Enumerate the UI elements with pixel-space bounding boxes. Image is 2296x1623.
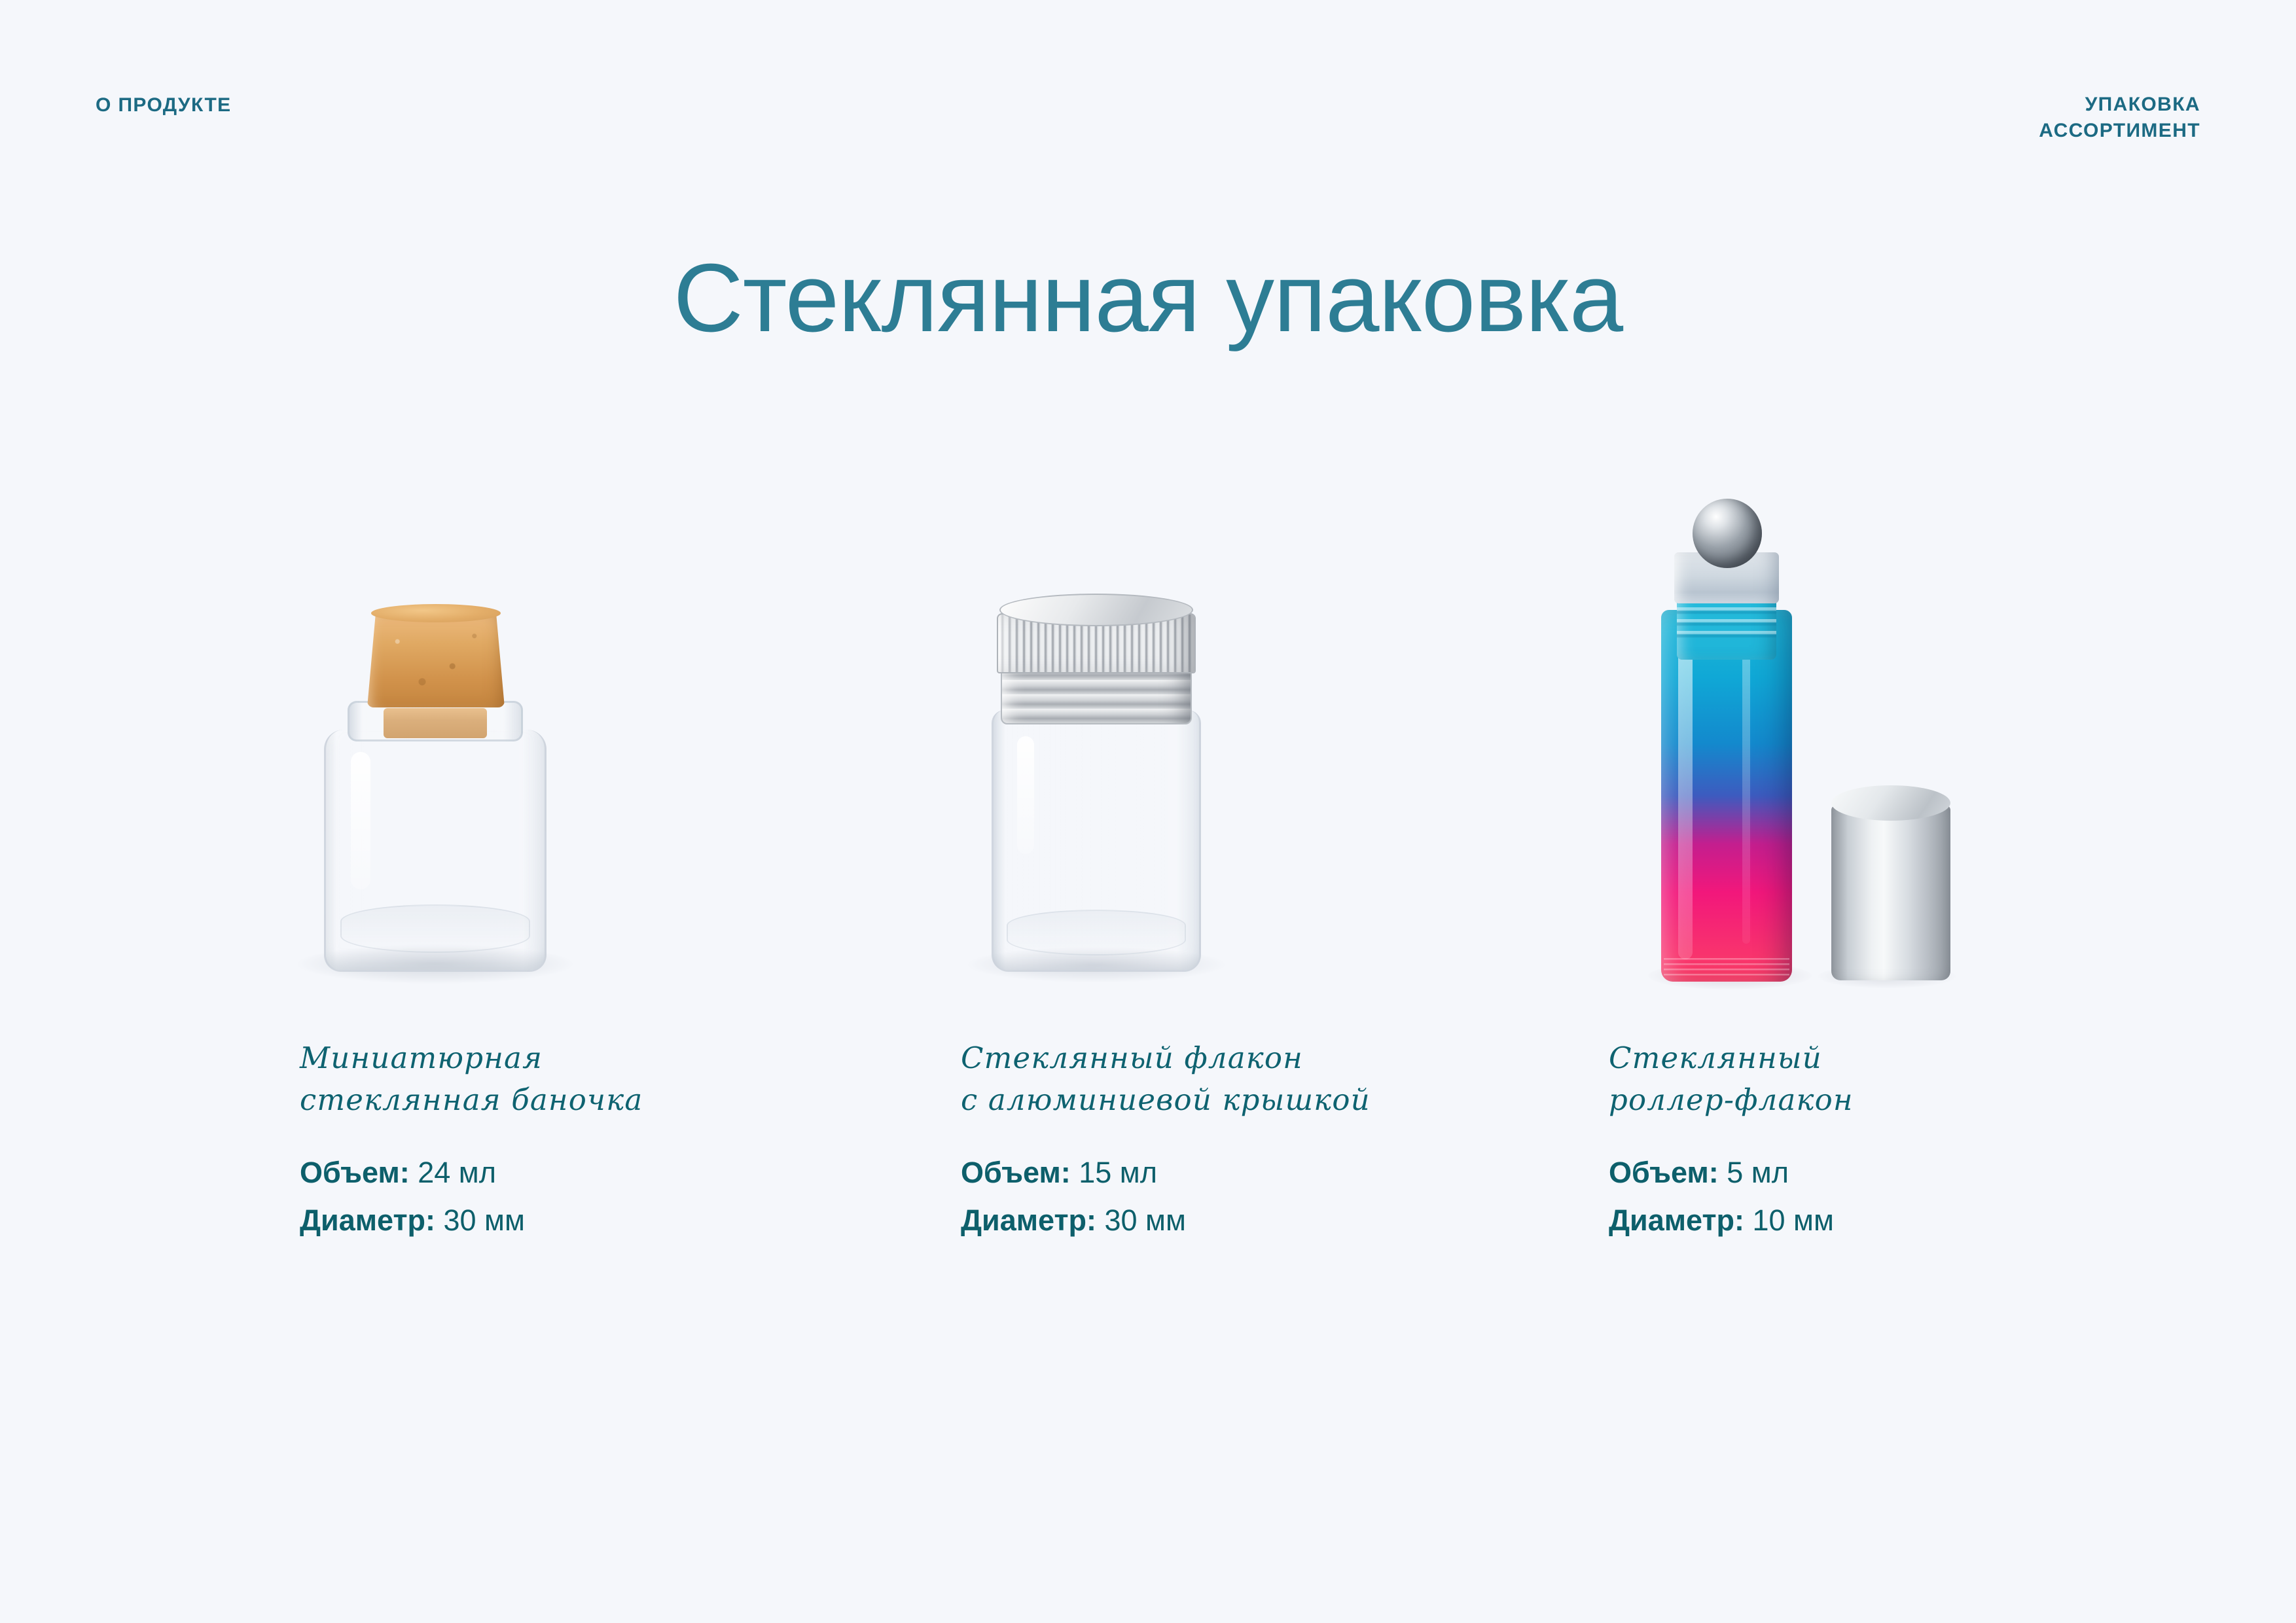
spec-diameter-value: 10 мм bbox=[1753, 1204, 1834, 1237]
header-topic-line-1: УПАКОВКА bbox=[2039, 92, 2200, 118]
page-title: Стеклянная упаковка bbox=[0, 247, 2296, 349]
jar-glass-body bbox=[324, 730, 547, 972]
spec-volume-value: 24 мл bbox=[418, 1156, 496, 1189]
spec-diameter-label: Диаметр: bbox=[300, 1204, 435, 1237]
aluminium-cap-top bbox=[999, 594, 1193, 626]
product-caption: Стеклянный роллер-флакон bbox=[1609, 1037, 2172, 1121]
product-card: Миниатюрная стеклянная баночка Объем: 24… bbox=[216, 484, 877, 1335]
spec-diameter-label: Диаметр: bbox=[961, 1204, 1096, 1237]
spec-volume: Объем: 5 мл bbox=[1609, 1149, 2172, 1196]
spec-volume: Объем: 15 мл bbox=[961, 1149, 1524, 1196]
spec-diameter: Диаметр: 30 мм bbox=[961, 1196, 1524, 1244]
product-card: Стеклянный роллер-флакон Объем: 5 мл Диа… bbox=[1525, 484, 2186, 1335]
spec-volume-value: 5 мл bbox=[1727, 1156, 1789, 1189]
product-caption: Миниатюрная стеклянная баночка bbox=[300, 1037, 863, 1121]
glass-highlight-secondary bbox=[1742, 636, 1750, 944]
spec-diameter: Диаметр: 30 мм bbox=[300, 1196, 863, 1244]
spec-diameter-value: 30 мм bbox=[1105, 1204, 1186, 1237]
silver-cap-top bbox=[1831, 785, 1950, 821]
product-card-list: Миниатюрная стеклянная баночка Объем: 24… bbox=[0, 484, 2296, 1335]
header-topic-line-2: АССОРТИМЕНТ bbox=[2039, 118, 2200, 144]
product-caption: Стеклянный флакон с алюминиевой крышкой bbox=[961, 1037, 1524, 1121]
spec-volume: Объем: 24 мл bbox=[300, 1149, 863, 1196]
spec-diameter-value: 30 мм bbox=[444, 1204, 525, 1237]
spec-diameter: Диаметр: 10 мм bbox=[1609, 1196, 2172, 1244]
spec-volume-label: Объем: bbox=[300, 1156, 410, 1189]
slide-root: О ПРОДУКТЕ УПАКОВКА АССОРТИМЕНТ Стеклянн… bbox=[0, 0, 2296, 1623]
product-image-miniature-glass-jar-with-cork-stopper bbox=[216, 484, 877, 1008]
roller-bottle-illustration bbox=[1610, 504, 1964, 982]
jar-glass-body bbox=[992, 710, 1201, 972]
cork-stopper bbox=[367, 616, 505, 707]
steel-roller-ball bbox=[1693, 499, 1762, 568]
jar-inner-base bbox=[1007, 910, 1186, 955]
spec-volume-value: 15 мл bbox=[1079, 1156, 1157, 1189]
bottle-base-rings bbox=[1664, 958, 1789, 976]
glass-highlight bbox=[351, 752, 370, 889]
cork-stopper-top bbox=[371, 604, 501, 622]
glass-highlight bbox=[1678, 619, 1693, 959]
product-specs: Объем: 15 мл Диаметр: 30 мм bbox=[961, 1149, 1524, 1245]
header-topic-label: УПАКОВКА АССОРТИМЕНТ bbox=[2039, 92, 2200, 143]
product-card: Стеклянный флакон с алюминиевой крышкой … bbox=[877, 484, 1538, 1335]
glass-highlight bbox=[1017, 736, 1034, 854]
silver-cap-body bbox=[1831, 805, 1950, 980]
spec-diameter-label: Диаметр: bbox=[1609, 1204, 1744, 1237]
product-specs: Объем: 5 мл Диаметр: 10 мм bbox=[1609, 1149, 2172, 1245]
header-section-label: О ПРОДУКТЕ bbox=[96, 94, 232, 116]
roller-bottle-gradient-body bbox=[1661, 610, 1792, 982]
aluminium-cap-jar-illustration bbox=[992, 592, 1201, 972]
product-image-glass-vial-with-aluminium-screw-cap bbox=[877, 484, 1538, 1008]
cork-inside-neck bbox=[384, 708, 487, 738]
cork-jar-illustration bbox=[324, 605, 547, 972]
spec-volume-label: Объем: bbox=[961, 1156, 1071, 1189]
jar-inner-base bbox=[340, 904, 530, 953]
product-specs: Объем: 24 мл Диаметр: 30 мм bbox=[300, 1149, 863, 1245]
product-image-glass-roller-bottle-gradient-with-silver-cap bbox=[1525, 484, 2186, 1008]
spec-volume-label: Объем: bbox=[1609, 1156, 1719, 1189]
